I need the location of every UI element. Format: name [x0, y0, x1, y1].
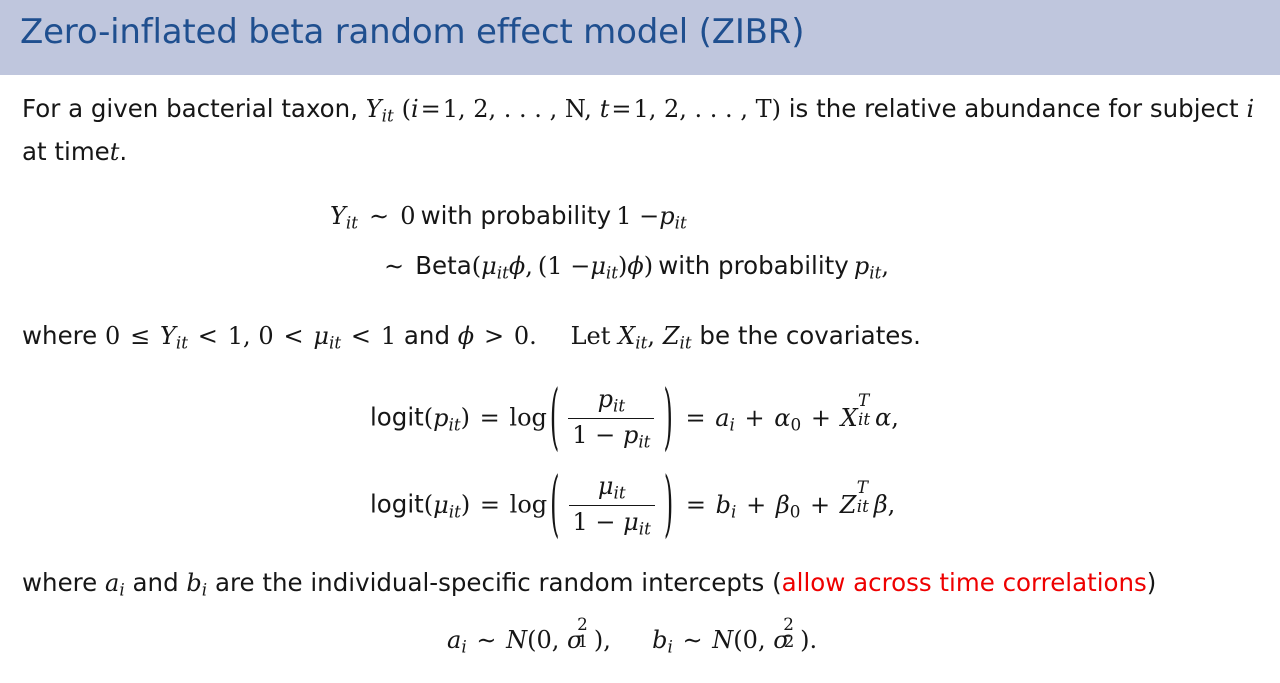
- constraints-zero-2: 0: [258, 322, 273, 350]
- lt-operator-2: <: [281, 322, 305, 350]
- alpha-zero: α0: [774, 404, 801, 432]
- dist-p-1: pit: [659, 202, 687, 230]
- logit-mu-equation: logit(μit) = log(μit1 − μit) = bi + β0 +…: [370, 473, 895, 539]
- math-Y: Yit: [366, 95, 394, 123]
- dist-Y: Yit: [330, 202, 358, 230]
- intro-line1-lead: For a given bacterial taxon,: [22, 94, 358, 123]
- odds-denominator-mu: 1 − μit: [569, 505, 655, 539]
- one-minus-1: 1 −: [616, 202, 659, 230]
- normal-distribution-equation: ai ∼ N(0, σ21), bi ∼ N(0, σ22).: [447, 626, 817, 657]
- i-range: 1, 2, . . . , N,: [443, 95, 592, 123]
- distributed-as-icon-2: ∽: [378, 252, 410, 280]
- logit-mu-label: logit: [370, 490, 424, 519]
- beta-open-paren: (: [472, 252, 481, 280]
- equals-1: =: [419, 95, 443, 123]
- constraints-one-2: 1: [381, 322, 396, 350]
- logit-mu-open: (: [424, 491, 433, 519]
- Z-transpose: ZTitit: [840, 491, 874, 519]
- slide-body: For a given bacterial taxon, Yit (i=1, 2…: [0, 75, 1280, 683]
- tilde-operator-2: ∼: [681, 626, 705, 654]
- logit-p-trailing-comma: ,: [891, 404, 899, 432]
- beta-comma: ,: [525, 252, 533, 280]
- re-where: where: [22, 568, 97, 597]
- beta-name: Beta: [415, 251, 472, 280]
- re-a: ai: [105, 569, 125, 597]
- big-paren-close-p: ): [660, 375, 675, 459]
- dist-p-2: pit: [854, 252, 882, 280]
- plus-operator-mu2: +: [808, 491, 832, 519]
- math-subject-i: i: [1246, 95, 1254, 123]
- log-operator-p: log: [509, 404, 547, 432]
- logit-p-equals-2: =: [683, 404, 707, 432]
- intro-line1-tail: is the relative abundance for: [789, 94, 1142, 123]
- normal-b: bi: [652, 626, 673, 654]
- beta-mu-1: μit: [481, 252, 509, 280]
- constraints-mu: μit: [313, 322, 341, 350]
- lt-operator-3: <: [349, 322, 373, 350]
- range-open-paren: (: [402, 95, 411, 123]
- beta-close-paren: ): [644, 252, 653, 280]
- normal-a: ai: [447, 626, 467, 654]
- re-and: and: [133, 568, 179, 597]
- odds-numerator-mu: μit: [569, 472, 655, 505]
- tilde-operator-1: ∼: [474, 626, 498, 654]
- equals-2: =: [609, 95, 633, 123]
- big-paren-open-mu: (: [547, 462, 562, 546]
- odds-fraction-p: pit1 − pit: [562, 385, 660, 451]
- normal-variance-1: σ21: [567, 626, 582, 654]
- re-paren-open: (: [772, 568, 782, 597]
- logit-mu-equals-2: =: [684, 491, 708, 519]
- X-transpose: XTitit: [841, 404, 875, 432]
- intro-paragraph: For a given bacterial taxon, Yit (i=1, 2…: [22, 91, 1260, 170]
- logit-p-arg: pit: [433, 404, 461, 432]
- logit-mu-close: ): [461, 491, 470, 519]
- big-paren-open-p: (: [547, 375, 562, 459]
- normal-close-1: ),: [594, 626, 611, 654]
- big-paren-close-mu: ): [661, 462, 676, 546]
- constraints-X: Xit: [618, 322, 647, 350]
- constraints-phi: ϕ: [458, 322, 474, 350]
- beta-phi-2: ϕ: [627, 252, 643, 280]
- re-b: bi: [186, 569, 207, 597]
- re-description: are the individual-specific random inter…: [215, 568, 764, 597]
- beta-one-minus: 1 −: [547, 252, 590, 280]
- constraints-line: where 0 ≤ Yit < 1, 0 < μit < 1 and ϕ > 0…: [22, 318, 1260, 361]
- alpha-vector: α: [875, 404, 891, 432]
- beta-zero: β0: [776, 491, 801, 519]
- plus-operator-p1: +: [743, 404, 767, 432]
- beta-inner-open: (: [538, 252, 547, 280]
- t-range: 1, 2, . . . , T: [633, 95, 771, 123]
- lt-operator-1: <: [196, 322, 220, 350]
- constraints-Z: Zit: [663, 322, 692, 350]
- odds-numerator-p: pit: [568, 385, 654, 418]
- random-intercept-b: bi: [716, 491, 737, 519]
- re-paren-close: ): [1147, 568, 1157, 597]
- constraints-tail: be the covariates.: [699, 321, 921, 350]
- log-operator-mu: log: [510, 491, 548, 519]
- normal-open-2: (: [733, 626, 742, 654]
- constraints-one-1: 1,: [228, 322, 251, 350]
- distribution-equation-zero: Yit ∽ 0 with probability 1 −pit: [330, 201, 687, 233]
- constraints-zero-1: 0: [105, 322, 120, 350]
- beta-vector: β: [874, 491, 888, 519]
- distribution-equation-beta: ∽ Beta(μitϕ, (1 −μit)ϕ) with probability…: [378, 251, 889, 283]
- logit-mu-equals-1: =: [478, 491, 502, 519]
- gt-operator: >: [482, 322, 506, 350]
- re-highlight: allow across time correlations: [782, 568, 1147, 597]
- normal-mean-1: 0,: [536, 626, 559, 654]
- logit-p-equals-1: =: [478, 404, 502, 432]
- normal-N-2: N: [712, 626, 733, 654]
- constraints-and: and: [404, 321, 450, 350]
- random-intercept-a: ai: [715, 404, 735, 432]
- logit-p-open: (: [424, 404, 433, 432]
- random-effects-line: where ai and bi are the individual-speci…: [22, 565, 1260, 608]
- plus-operator-p2: +: [809, 404, 833, 432]
- beta-phi-1: ϕ: [509, 252, 525, 280]
- constraints-let: Let: [571, 322, 611, 350]
- dist-with-probability-1: with probability: [421, 201, 612, 230]
- page-title: Zero-inflated beta random effect model (…: [20, 12, 804, 52]
- intro-line2-lead: subject: [1150, 94, 1239, 123]
- range-close-paren: ): [772, 95, 781, 123]
- constraints-zero-3: 0.: [514, 322, 537, 350]
- normal-N-1: N: [506, 626, 527, 654]
- dist-trailing-comma: ,: [881, 252, 889, 280]
- logit-mu-trailing-comma: ,: [888, 491, 896, 519]
- intro-line2-mid: at time: [22, 137, 110, 166]
- plus-operator-mu1: +: [744, 491, 768, 519]
- dist-zero: 0: [400, 202, 415, 230]
- logit-p-close: ): [461, 404, 470, 432]
- logit-p-label: logit: [370, 403, 424, 432]
- normal-variance-2: σ22: [773, 626, 788, 654]
- distributed-as-icon: ∽: [363, 202, 395, 230]
- leq-operator: ≤: [128, 322, 152, 350]
- constraints-where: where: [22, 321, 97, 350]
- odds-fraction-mu: μit1 − μit: [563, 472, 661, 538]
- logit-p-equation: logit(pit) = log(pit1 − pit) = ai + α0 +…: [370, 386, 899, 452]
- odds-denominator-p: 1 − pit: [568, 418, 654, 452]
- math-i: i: [411, 95, 419, 123]
- math-time-t: t: [110, 138, 120, 166]
- constraints-Y: Yit: [160, 322, 188, 350]
- logit-mu-arg: μit: [433, 491, 461, 519]
- math-t: t: [600, 95, 610, 123]
- slide-title-bar: Zero-inflated beta random effect model (…: [0, 0, 1280, 75]
- beta-mu-2: μit: [590, 252, 618, 280]
- normal-mean-2: 0,: [743, 626, 766, 654]
- constraints-comma: ,: [647, 322, 655, 350]
- intro-line2-period: .: [119, 137, 127, 166]
- dist-with-probability-2: with probability: [658, 251, 849, 280]
- normal-close-2: ).: [800, 626, 817, 654]
